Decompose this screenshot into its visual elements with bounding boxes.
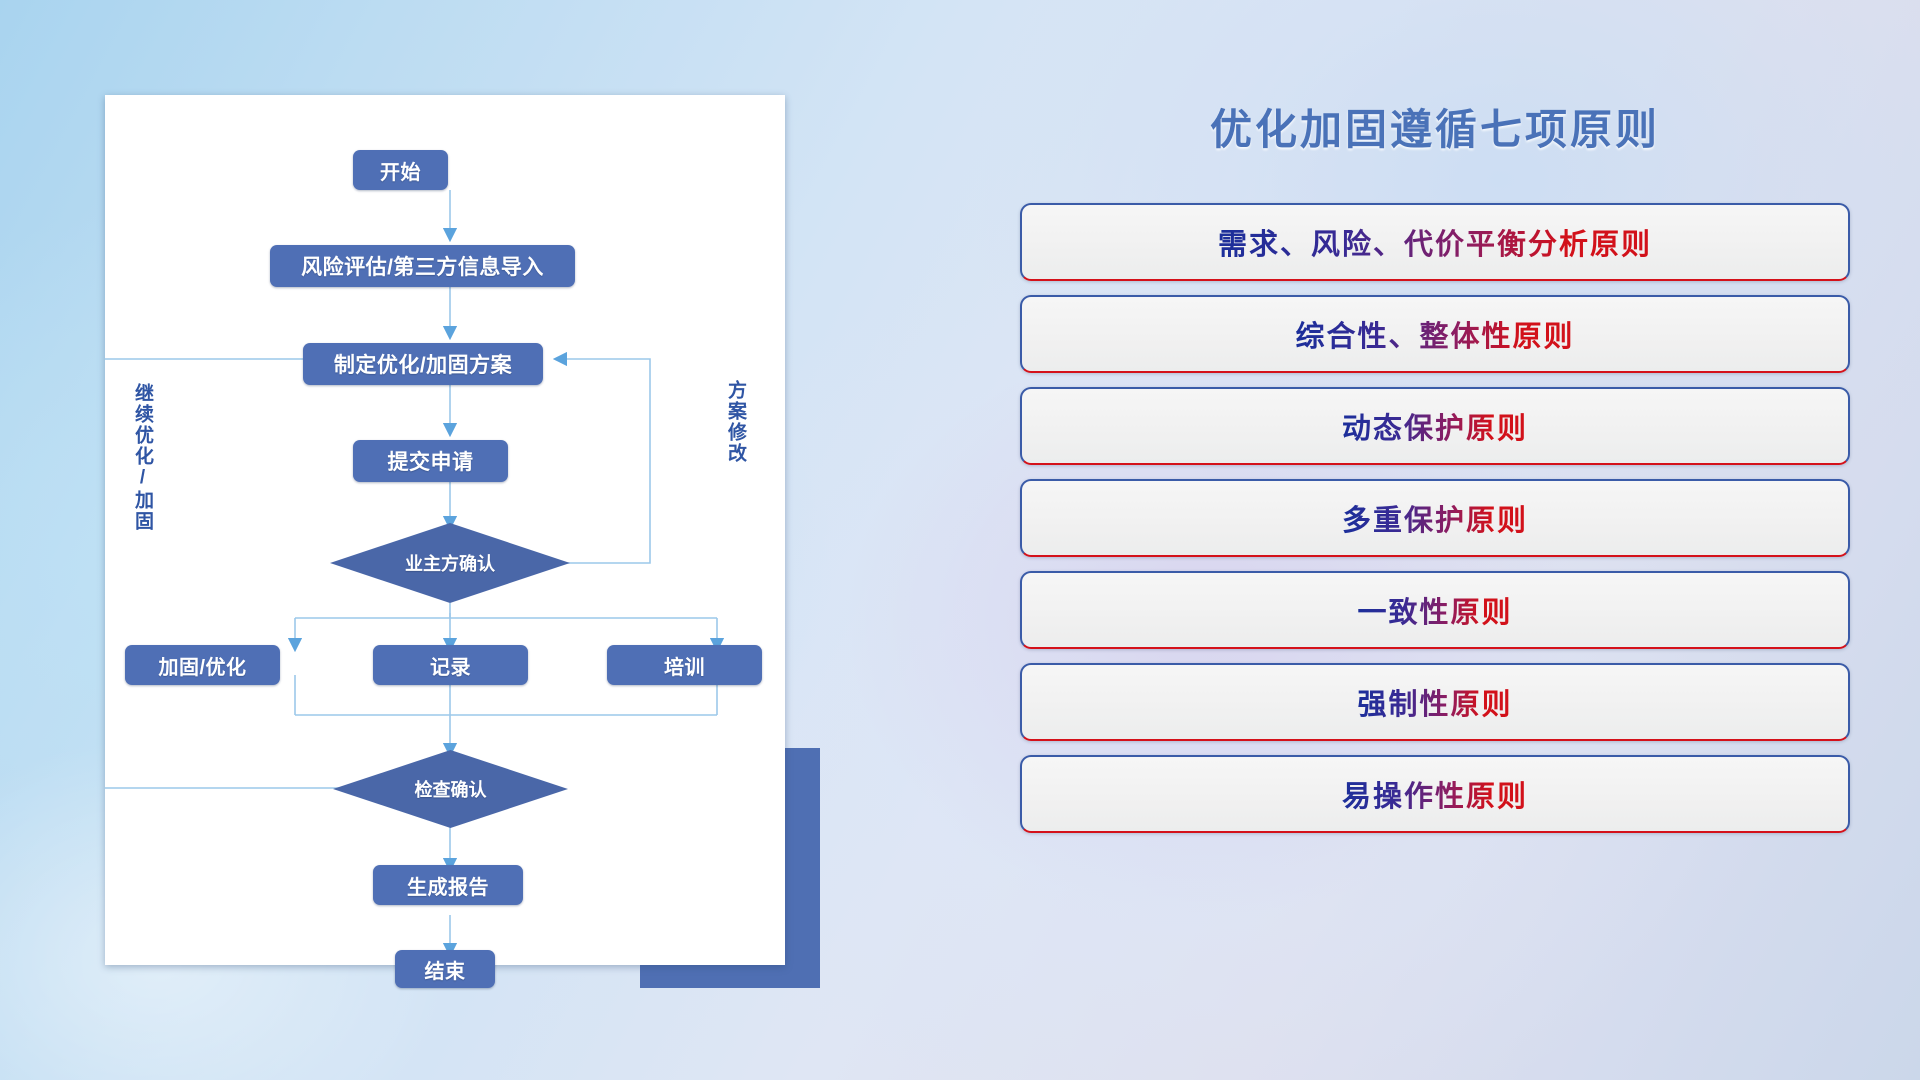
principle-label: 动态保护原则: [1342, 405, 1528, 447]
flow-node-plan[interactable]: 制定优化/加固方案: [303, 343, 543, 385]
principle-item[interactable]: 动态保护原则: [1020, 387, 1850, 465]
principle-label: 多重保护原则: [1342, 497, 1528, 539]
principle-label: 强制性原则: [1357, 681, 1512, 723]
flow-node-training[interactable]: 培训: [607, 645, 762, 685]
principle-label: 综合性、整体性原则: [1295, 313, 1574, 355]
flow-node-label: 风险评估/第三方信息导入: [301, 251, 544, 281]
flow-node-label: 生成报告: [407, 871, 489, 900]
flow-edge-label-continue-optimize: 继续优化/加固: [129, 383, 156, 532]
flow-node-reinforce[interactable]: 加固/优化: [125, 645, 280, 685]
flowchart-card: 开始 风险评估/第三方信息导入 制定优化/加固方案 提交申请 业主方确认 加固/…: [105, 95, 785, 965]
panel-title: 优化加固遵循七项原则: [1020, 96, 1850, 157]
flow-node-record[interactable]: 记录: [373, 645, 528, 685]
flow-node-label: 制定优化/加固方案: [334, 349, 512, 379]
principle-item[interactable]: 综合性、整体性原则: [1020, 295, 1850, 373]
flow-node-generate-report[interactable]: 生成报告: [373, 865, 523, 905]
principle-item[interactable]: 易操作性原则: [1020, 755, 1850, 833]
principles-panel: 优化加固遵循七项原则 需求、风险、代价平衡分析原则 综合性、整体性原则 动态保护…: [1020, 96, 1850, 1006]
flow-node-end[interactable]: 结束: [395, 950, 495, 988]
principle-item[interactable]: 一致性原则: [1020, 571, 1850, 649]
flow-node-label: 提交申请: [388, 446, 474, 476]
flow-node-label: 记录: [430, 651, 471, 680]
flow-node-risk-assessment[interactable]: 风险评估/第三方信息导入: [270, 245, 575, 287]
principle-label: 一致性原则: [1357, 589, 1512, 631]
principle-label: 易操作性原则: [1342, 773, 1528, 815]
flow-node-submit-application[interactable]: 提交申请: [353, 440, 508, 482]
flow-node-label: 业主方确认: [405, 550, 495, 576]
principle-item[interactable]: 需求、风险、代价平衡分析原则: [1020, 203, 1850, 281]
flow-node-label: 检查确认: [415, 776, 487, 802]
flow-node-label: 结束: [425, 955, 466, 984]
flow-node-start[interactable]: 开始: [353, 150, 448, 190]
flow-node-label: 开始: [380, 156, 421, 185]
principle-item[interactable]: 强制性原则: [1020, 663, 1850, 741]
flow-node-label: 加固/优化: [158, 651, 246, 680]
principle-item[interactable]: 多重保护原则: [1020, 479, 1850, 557]
flow-node-label: 培训: [664, 651, 705, 680]
flow-edge-label-plan-revision: 方案修改: [722, 380, 749, 464]
principle-label: 需求、风险、代价平衡分析原则: [1218, 221, 1652, 263]
